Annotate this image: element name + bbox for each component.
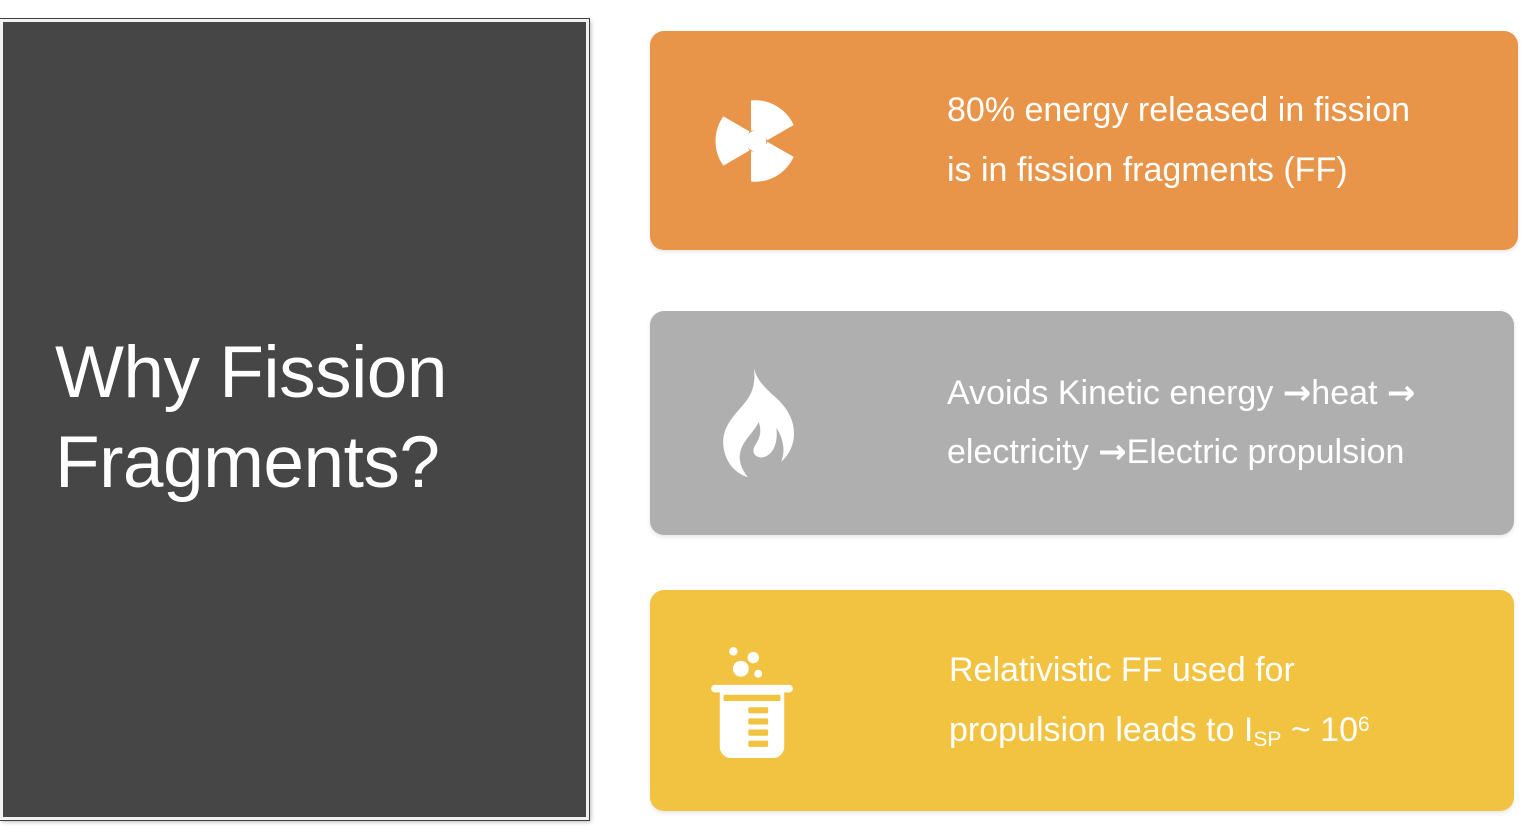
arrow-icon-2: → (1387, 373, 1416, 413)
card-fission-energy[interactable]: 80% energy released in fissionis in fiss… (650, 31, 1518, 250)
exponent-superscript: 6 (1358, 713, 1370, 736)
arrow-icon-1: → (1283, 373, 1312, 413)
card-line-2a: electricity (947, 433, 1098, 471)
isp-subscript: SP (1253, 728, 1281, 751)
card-line-2a: propulsion leads to I (949, 711, 1253, 749)
card-line-1b: heat (1311, 374, 1387, 412)
card-relativistic-isp[interactable]: Relativistic FF used forpropulsion leads… (650, 590, 1514, 811)
title-block: Why Fission Fragments? (0, 19, 589, 820)
flame-icon (650, 364, 835, 482)
card-text-avoids-conversion: Avoids Kinetic energy →heat →electricity… (835, 364, 1514, 482)
card-line-2b: Electric propulsion (1127, 433, 1405, 471)
card-line-2: is in fission fragments (FF) (947, 151, 1348, 189)
cards-column: 80% energy released in fissionis in fiss… (650, 31, 1518, 813)
card-line-1: 80% energy released in fission (947, 91, 1410, 129)
card-line-2b: ~ 10 (1281, 711, 1358, 749)
beaker-icon (650, 639, 839, 763)
card-line-1: Avoids Kinetic energy (947, 374, 1283, 412)
card-line-1: Relativistic FF used for (949, 651, 1295, 689)
card-avoids-conversion[interactable]: Avoids Kinetic energy →heat →electricity… (650, 311, 1514, 535)
arrow-icon-3: → (1098, 432, 1127, 472)
card-text-relativistic-isp: Relativistic FF used forpropulsion leads… (839, 641, 1514, 759)
page-title: Why Fission Fragments? (3, 328, 477, 506)
card-text-fission-energy: 80% energy released in fissionis in fiss… (843, 81, 1518, 199)
slide-root: Why Fission Fragments? 80% energy releas… (0, 0, 1536, 832)
radioactive-icon (650, 87, 843, 195)
